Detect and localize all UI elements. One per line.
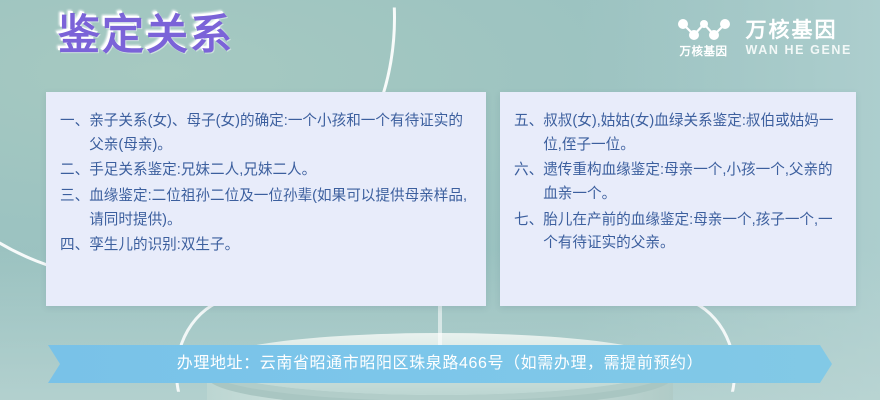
list-item: 七、 胎儿在产前的血缘鉴定:母亲一个,孩子一个,一个有待证实的父亲。 (514, 209, 840, 256)
brand-words: 万核基因 WAN HE GENE (746, 20, 853, 57)
info-panels: 一、 亲子关系(女)、母子(女)的确定:一个小孩和一个有待证实的父亲(母亲)。 … (46, 92, 856, 306)
list-item-text: 血缘鉴定:二位祖孙二位及一位孙辈(如果可以提供母亲样品,请同时提供)。 (89, 185, 470, 232)
list-item-text: 遗传重构血缘鉴定:母亲一个,小孩一个,父亲的血亲一个。 (543, 159, 840, 206)
brand-mark: 万核基因 (676, 18, 732, 59)
molecule-icon (676, 18, 732, 44)
brand-name-en: WAN HE GENE (746, 44, 853, 57)
info-panel-left: 一、 亲子关系(女)、母子(女)的确定:一个小孩和一个有待证实的父亲(母亲)。 … (46, 92, 486, 306)
list-item: 二、 手足关系鉴定:兄妹二人,兄妹二人。 (60, 159, 470, 183)
list-item-text: 孪生儿的识别:双生子。 (89, 234, 470, 258)
brand-lockup: 万核基因 万核基因 WAN HE GENE (676, 18, 853, 59)
brand-name-cn: 万核基因 (746, 20, 853, 42)
list-item: 五、 叔叔(女),姑姑(女)血绿关系鉴定:叔伯或姑妈一位,侄子一位。 (514, 110, 840, 157)
list-item-number: 四、 (60, 234, 89, 258)
list-item-number: 五、 (514, 110, 543, 134)
list-item-text: 胎儿在产前的血缘鉴定:母亲一个,孩子一个,一个有待证实的父亲。 (543, 209, 840, 256)
list-item-number: 二、 (60, 159, 89, 183)
list-item-text: 亲子关系(女)、母子(女)的确定:一个小孩和一个有待证实的父亲(母亲)。 (89, 110, 470, 157)
list-item-number: 六、 (514, 159, 543, 183)
list-item-number: 七、 (514, 209, 543, 233)
brand-mark-label: 万核基因 (680, 47, 728, 59)
page-title: 鉴定关系 (58, 14, 234, 56)
list-item-text: 叔叔(女),姑姑(女)血绿关系鉴定:叔伯或姑妈一位,侄子一位。 (543, 110, 840, 157)
list-item: 六、 遗传重构血缘鉴定:母亲一个,小孩一个,父亲的血亲一个。 (514, 159, 840, 206)
list-item-text: 手足关系鉴定:兄妹二人,兄妹二人。 (89, 159, 470, 183)
list-item-number: 三、 (60, 185, 89, 209)
address-text: 办理地址：云南省昭通市昭阳区珠泉路466号（如需办理，需提前预约） (177, 356, 704, 372)
info-panel-right: 五、 叔叔(女),姑姑(女)血绿关系鉴定:叔伯或姑妈一位,侄子一位。 六、 遗传… (500, 92, 856, 306)
list-item-number: 一、 (60, 110, 89, 134)
list-item: 一、 亲子关系(女)、母子(女)的确定:一个小孩和一个有待证实的父亲(母亲)。 (60, 110, 470, 157)
list-item: 三、 血缘鉴定:二位祖孙二位及一位孙辈(如果可以提供母亲样品,请同时提供)。 (60, 185, 470, 232)
address-banner: 办理地址：云南省昭通市昭阳区珠泉路466号（如需办理，需提前预约） (48, 345, 832, 383)
list-item: 四、 孪生儿的识别:双生子。 (60, 234, 470, 258)
poster-root: 鉴定关系 (0, 0, 880, 400)
